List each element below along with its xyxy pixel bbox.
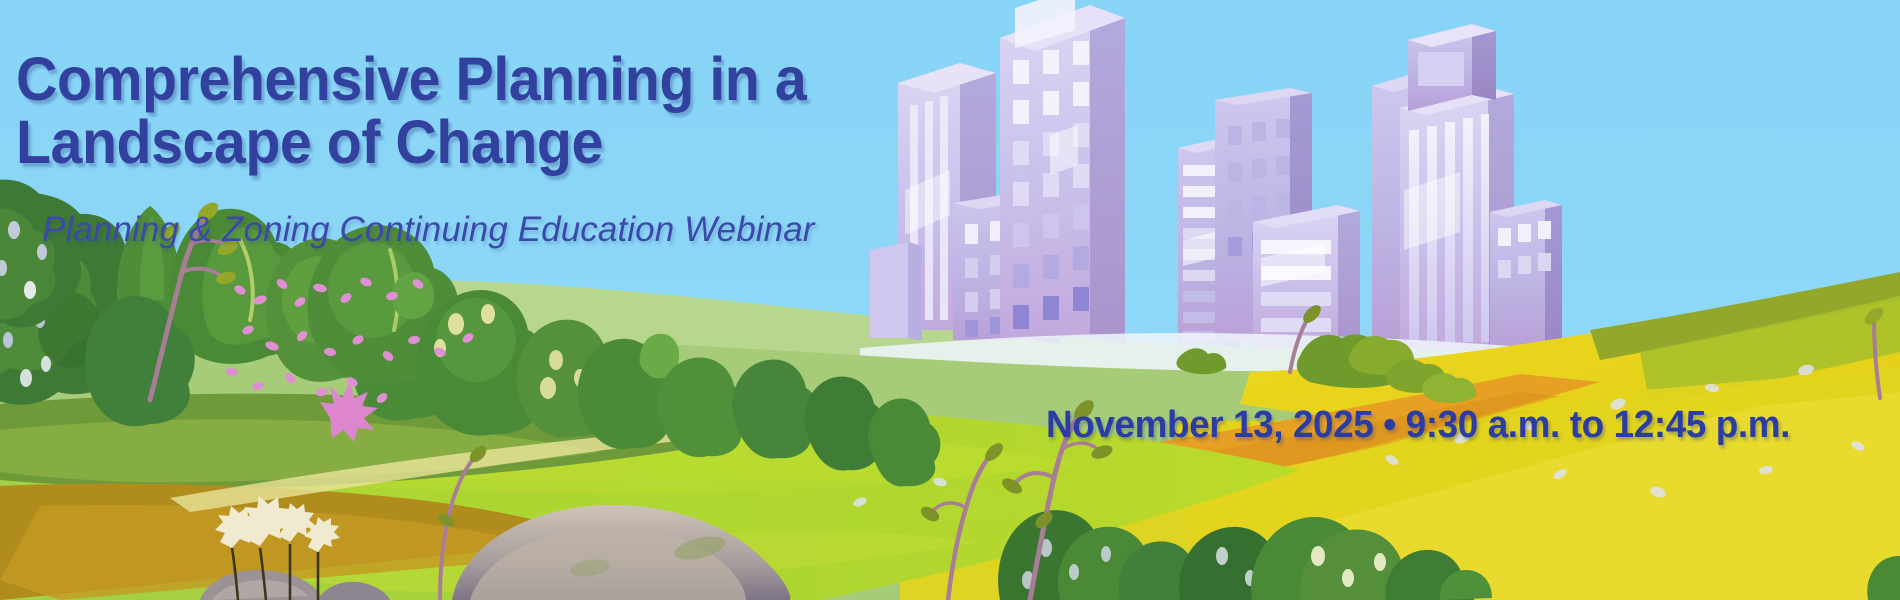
- banner-text-layer: Comprehensive Planning in a Landscape of…: [0, 0, 1900, 600]
- banner-datetime: November 13, 2025 • 9:30 a.m. to 12:45 p…: [1046, 404, 1790, 447]
- webinar-banner: Comprehensive Planning in a Landscape of…: [0, 0, 1900, 600]
- banner-subtitle: Planning & Zoning Continuing Education W…: [42, 210, 815, 250]
- banner-title: Comprehensive Planning in a Landscape of…: [16, 48, 862, 175]
